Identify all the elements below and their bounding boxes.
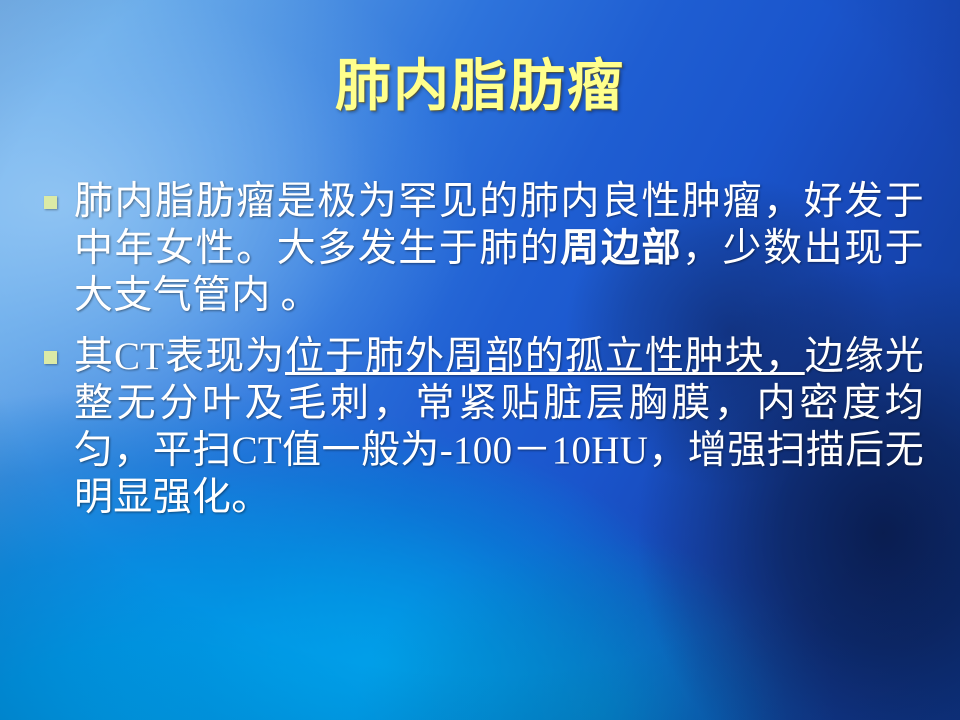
bullet-item-1: 肺内脂肪瘤是极为罕见的肺内良性肿瘤，好发于中年女性。大多发生于肺的周边部，少数出…	[44, 178, 924, 319]
bullet-2-segment-1: 其CT表现为	[74, 335, 285, 378]
bullet-list: 肺内脂肪瘤是极为罕见的肺内良性肿瘤，好发于中年女性。大多发生于肺的周边部，少数出…	[44, 178, 924, 535]
bullet-2-segment-2-underlined: 位于肺外周部的孤立性肿块，	[285, 335, 805, 378]
square-bullet-icon	[44, 351, 57, 364]
bullet-item-2: 其CT表现为位于肺外周部的孤立性肿块，边缘光整无分叶及毛刺，常紧贴脏层胸膜，内密…	[44, 333, 924, 521]
slide-content: 肺内脂肪瘤 肺内脂肪瘤是极为罕见的肺内良性肿瘤，好发于中年女性。大多发生于肺的周…	[0, 0, 960, 720]
presentation-slide: 肺内脂肪瘤 肺内脂肪瘤是极为罕见的肺内良性肿瘤，好发于中年女性。大多发生于肺的周…	[0, 0, 960, 720]
slide-title: 肺内脂肪瘤	[0, 55, 960, 117]
bullet-1-segment-2-bold: 周边部	[560, 227, 682, 270]
bullet-item-1-text: 肺内脂肪瘤是极为罕见的肺内良性肿瘤，好发于中年女性。大多发生于肺的周边部，少数出…	[74, 178, 924, 319]
square-bullet-icon	[44, 196, 57, 209]
bullet-item-2-text: 其CT表现为位于肺外周部的孤立性肿块，边缘光整无分叶及毛刺，常紧贴脏层胸膜，内密…	[74, 333, 924, 521]
